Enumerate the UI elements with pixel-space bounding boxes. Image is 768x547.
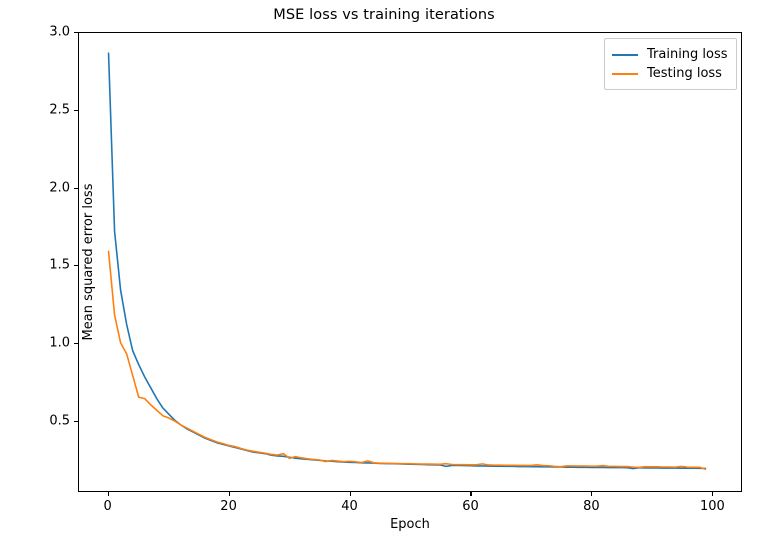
x-tick-mark <box>229 492 230 496</box>
legend-item: Training loss <box>612 45 728 64</box>
x-tick-mark <box>712 492 713 496</box>
x-tick-label: 40 <box>320 499 380 514</box>
chart-title: MSE loss vs training iterations <box>0 7 768 23</box>
matplotlib-figure: MSE loss vs training iterations Mean squ… <box>0 0 768 547</box>
x-tick-label: 80 <box>561 499 621 514</box>
series-line-training-loss <box>109 53 706 468</box>
series-line-testing-loss <box>109 251 706 469</box>
x-tick-label: 60 <box>440 499 500 514</box>
y-tick-label: 1.0 <box>10 336 70 351</box>
legend-color-swatch <box>612 73 638 75</box>
legend-item: Testing loss <box>612 64 728 83</box>
y-tick-label: 1.5 <box>10 258 70 273</box>
x-tick-label: 0 <box>78 499 138 514</box>
x-tick-mark <box>591 492 592 496</box>
plot-area <box>78 32 742 492</box>
y-tick-label: 0.5 <box>10 414 70 429</box>
legend-color-swatch <box>612 54 638 56</box>
y-tick-label: 2.0 <box>10 180 70 195</box>
x-tick-mark <box>350 492 351 496</box>
plot-lines <box>79 33 741 491</box>
legend-label: Testing loss <box>647 66 722 81</box>
y-tick-label: 3.0 <box>10 25 70 40</box>
x-tick-label: 100 <box>682 499 742 514</box>
chart-legend: Training lossTesting loss <box>604 38 737 90</box>
x-axis-label: Epoch <box>78 517 742 532</box>
x-tick-mark <box>108 492 109 496</box>
legend-label: Training loss <box>647 47 728 62</box>
x-tick-label: 20 <box>199 499 259 514</box>
x-tick-mark <box>470 492 471 496</box>
y-tick-label: 2.5 <box>10 102 70 117</box>
